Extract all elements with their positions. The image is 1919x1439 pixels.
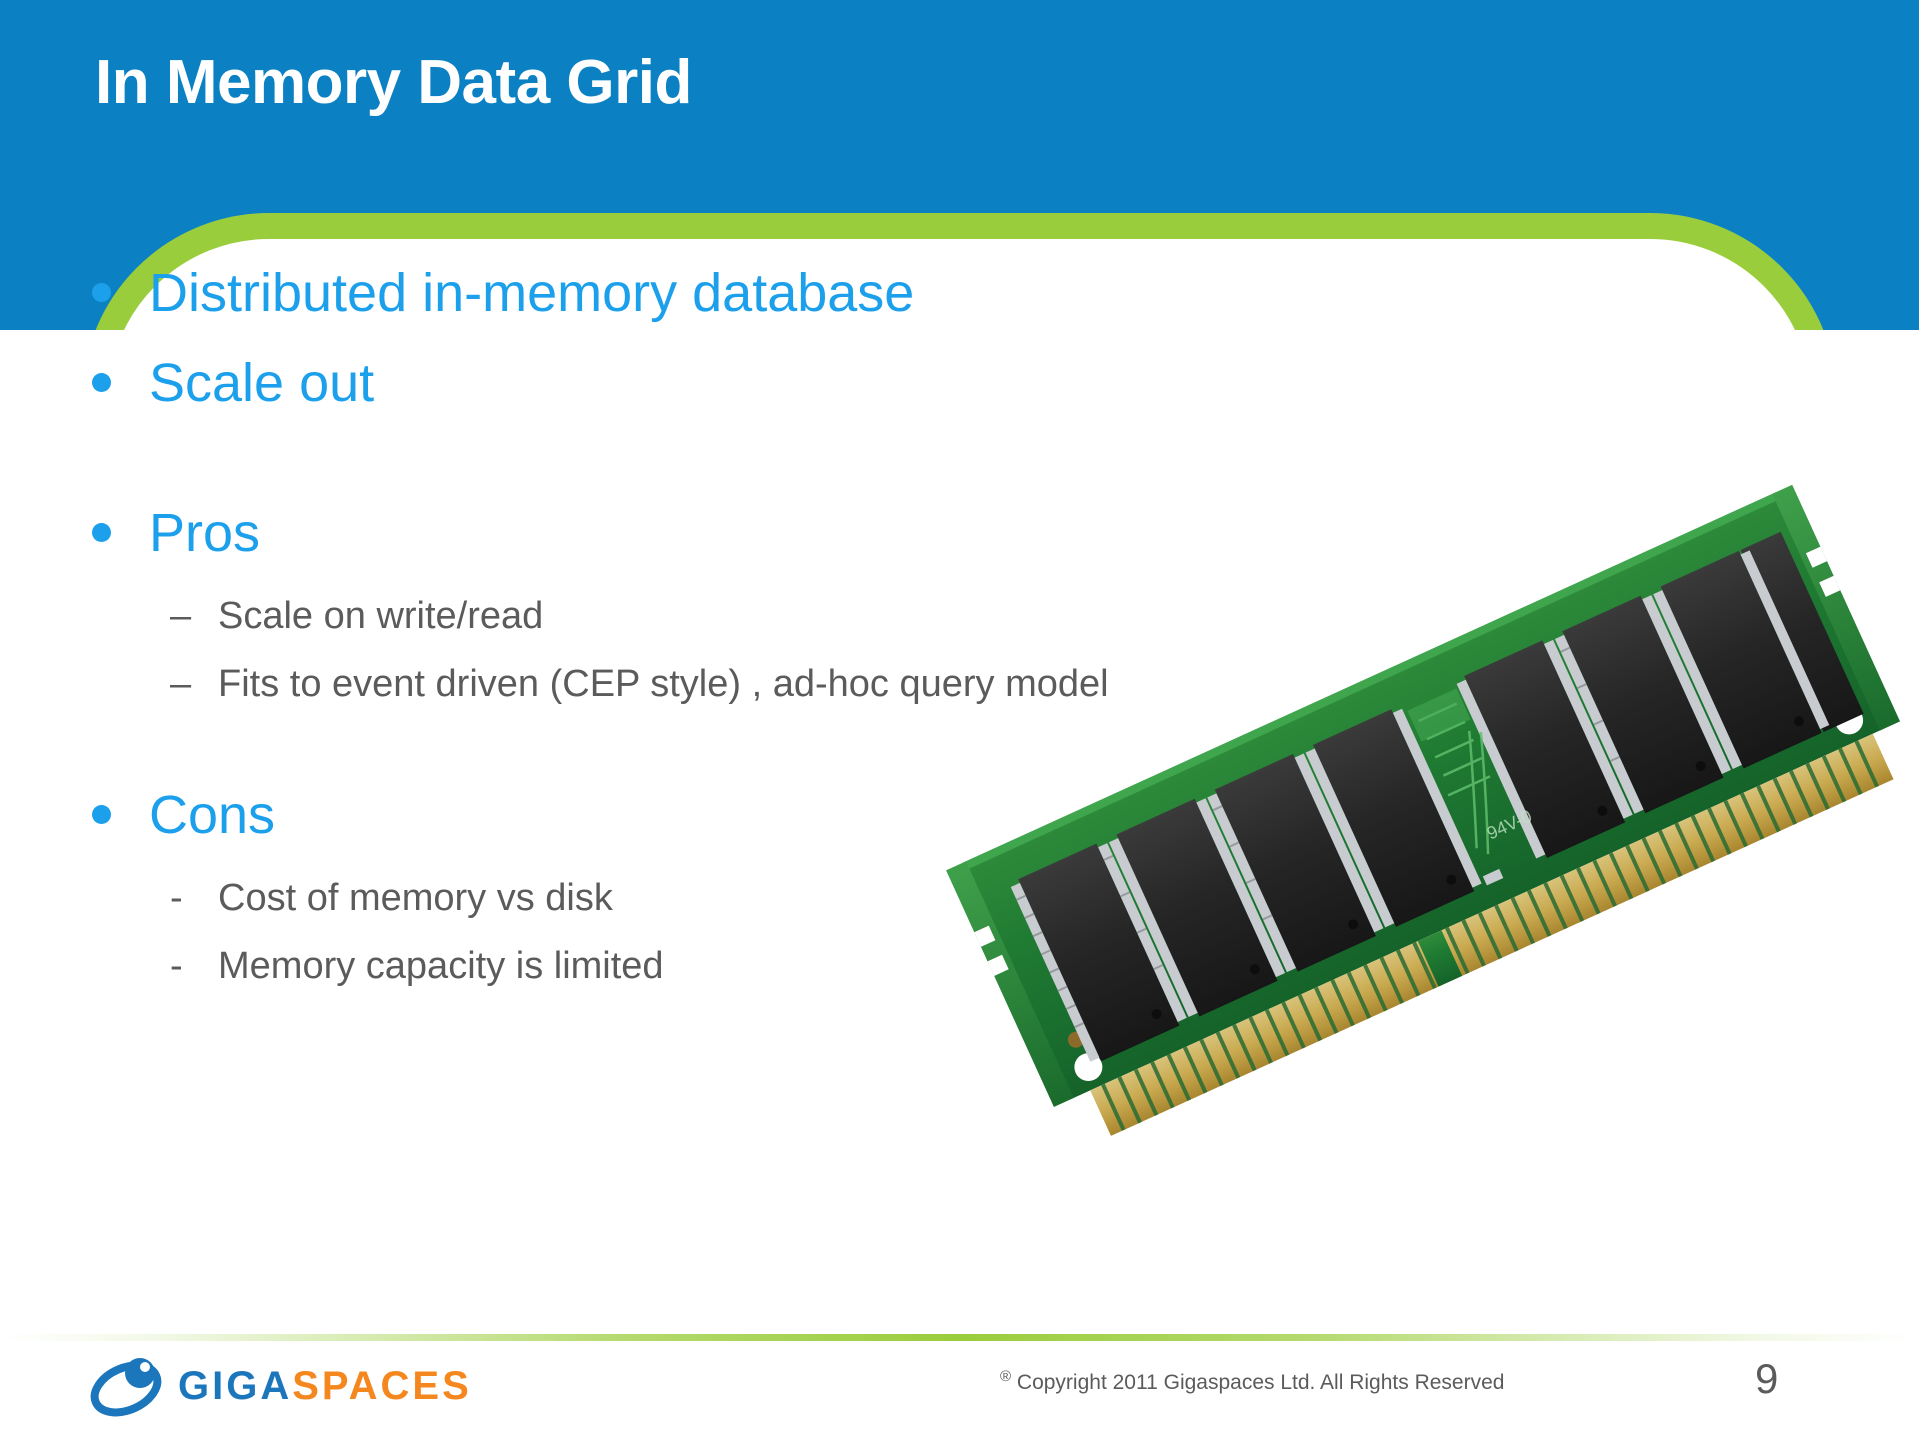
sub-bullet-label: Scale on write/read	[218, 585, 543, 647]
hyphen-marker-icon: -	[170, 935, 218, 997]
orbit-sphere-logo-icon	[88, 1355, 170, 1417]
sub-bullet-label: Cost of memory vs disk	[218, 867, 613, 929]
copyright-text: Copyright 2011 Gigaspaces Ltd. All Right…	[1017, 1371, 1505, 1394]
en-dash-marker-icon: –	[170, 653, 218, 715]
slide-canvas: In Memory Data Grid	[0, 0, 1919, 1439]
bullet-group-spacer	[0, 721, 1250, 777]
bullet-dot-icon	[92, 373, 111, 392]
bullet-item-scale-out: Scale out	[92, 345, 1250, 421]
slide-title: In Memory Data Grid	[95, 52, 692, 114]
sub-bullet-label: Memory capacity is limited	[218, 935, 664, 997]
copyright-notice: ® Copyright 2011 Gigaspaces Ltd. All Rig…	[1000, 1368, 1504, 1395]
bullet-label: Scale out	[149, 345, 374, 421]
page-number: 9	[1755, 1355, 1778, 1403]
bullet-label: Cons	[149, 777, 275, 853]
bullet-dot-icon	[92, 523, 111, 542]
bullet-group-spacer	[0, 435, 1250, 495]
bullet-label: Distributed in-memory database	[149, 255, 914, 331]
logo-giga-text: GIGA	[178, 1364, 292, 1408]
bullet-dot-icon	[92, 805, 111, 824]
en-dash-marker-icon: –	[170, 585, 218, 647]
sub-bullet-item-memory-capacity-is-limited: - Memory capacity is limited	[170, 935, 1250, 997]
logo-spaces-text: SPACES	[292, 1364, 472, 1408]
bullet-item-cons: Cons	[92, 777, 1250, 853]
sub-bullet-item-scale-on-write-read: – Scale on write/read	[170, 585, 1250, 647]
logo-wordmark: GIGASPACES	[178, 1366, 472, 1406]
bullet-dot-icon	[92, 283, 111, 302]
bullet-label: Pros	[149, 495, 260, 571]
bullet-item-distributed-in-memory-database: Distributed in-memory database	[92, 255, 1250, 331]
bullet-item-pros: Pros	[92, 495, 1250, 571]
registered-mark-icon: ®	[1000, 1368, 1011, 1385]
sub-bullet-item-fits-to-event-driven: – Fits to event driven (CEP style) , ad-…	[170, 653, 1250, 715]
footer-divider	[0, 1334, 1919, 1341]
sub-bullet-item-cost-of-memory-vs-disk: - Cost of memory vs disk	[170, 867, 1250, 929]
hyphen-marker-icon: -	[170, 867, 218, 929]
sub-bullet-label: Fits to event driven (CEP style) , ad-ho…	[218, 653, 1109, 715]
gigaspaces-logo: GIGASPACES	[88, 1355, 472, 1417]
bullet-list: Distributed in-memory database Scale out…	[0, 255, 1250, 1003]
